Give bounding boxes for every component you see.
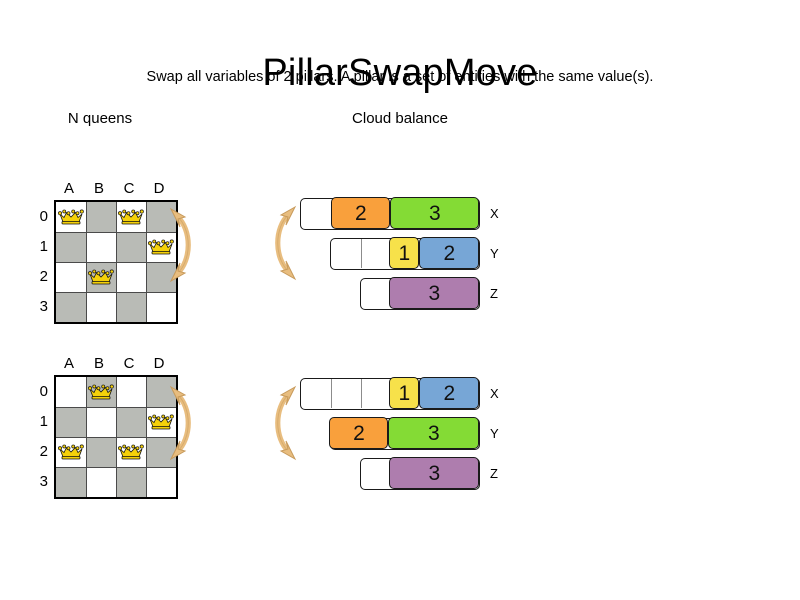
cloud-free-space	[301, 197, 333, 229]
cloud-computer-label-Y: Y	[490, 418, 499, 450]
cloud-group-before: 23X12Y3Z	[0, 198, 800, 328]
board-column-label-D: D	[144, 180, 174, 197]
board-column-label-B: B	[84, 355, 114, 372]
cloud-process-1[interactable]: 1	[389, 237, 419, 269]
cloud-free-space	[331, 237, 391, 269]
cloud-free-space	[301, 377, 391, 409]
cloud-computer-bar-Z[interactable]: 3	[360, 278, 480, 310]
board-column-label-B: B	[84, 180, 114, 197]
cloud-process-3[interactable]: 3	[389, 457, 479, 489]
cloud-process-3[interactable]: 3	[390, 197, 479, 229]
cloud-computer-bar-X[interactable]: 12	[300, 378, 480, 410]
board-column-label-A: A	[54, 355, 84, 372]
board-column-label-C: C	[114, 180, 144, 197]
cloud-process-2[interactable]: 2	[419, 237, 479, 269]
cloud-computer-label-Z: Z	[490, 458, 498, 490]
board-column-label-C: C	[114, 355, 144, 372]
cloud-computer-bar-X[interactable]: 23	[300, 198, 480, 230]
cloud-computer-label-Y: Y	[490, 238, 499, 270]
cloud-free-space	[361, 457, 391, 489]
cloud-free-space	[361, 277, 391, 309]
cloud-process-3[interactable]: 3	[388, 417, 479, 449]
cloud-computer-bar-Y[interactable]: 12	[330, 238, 480, 270]
swap-arrow-cloud-bottom	[268, 378, 298, 468]
page-subtitle: Swap all variables of 2 pillars. A pilla…	[0, 68, 800, 86]
cloud-computer-bar-Z[interactable]: 3	[360, 458, 480, 490]
cloud-process-1[interactable]: 1	[389, 377, 419, 409]
cloud-group-after: 12X23Y3Z	[0, 378, 800, 508]
board-column-label-D: D	[144, 355, 174, 372]
cloud-process-3[interactable]: 3	[389, 277, 479, 309]
cloud-process-2[interactable]: 2	[419, 377, 479, 409]
section-heading-nqueens: N queens	[38, 110, 162, 127]
board-column-label-A: A	[54, 180, 84, 197]
cloud-computer-label-X: X	[490, 378, 499, 410]
cloud-process-2[interactable]: 2	[329, 417, 388, 449]
cloud-computer-bar-Y[interactable]: 23	[330, 418, 480, 450]
section-heading-cloud: Cloud balance	[320, 110, 480, 127]
swap-arrow-cloud-top	[268, 198, 298, 288]
cloud-computer-label-Z: Z	[490, 278, 498, 310]
cloud-process-2[interactable]: 2	[331, 197, 390, 229]
cloud-computer-label-X: X	[490, 198, 499, 230]
